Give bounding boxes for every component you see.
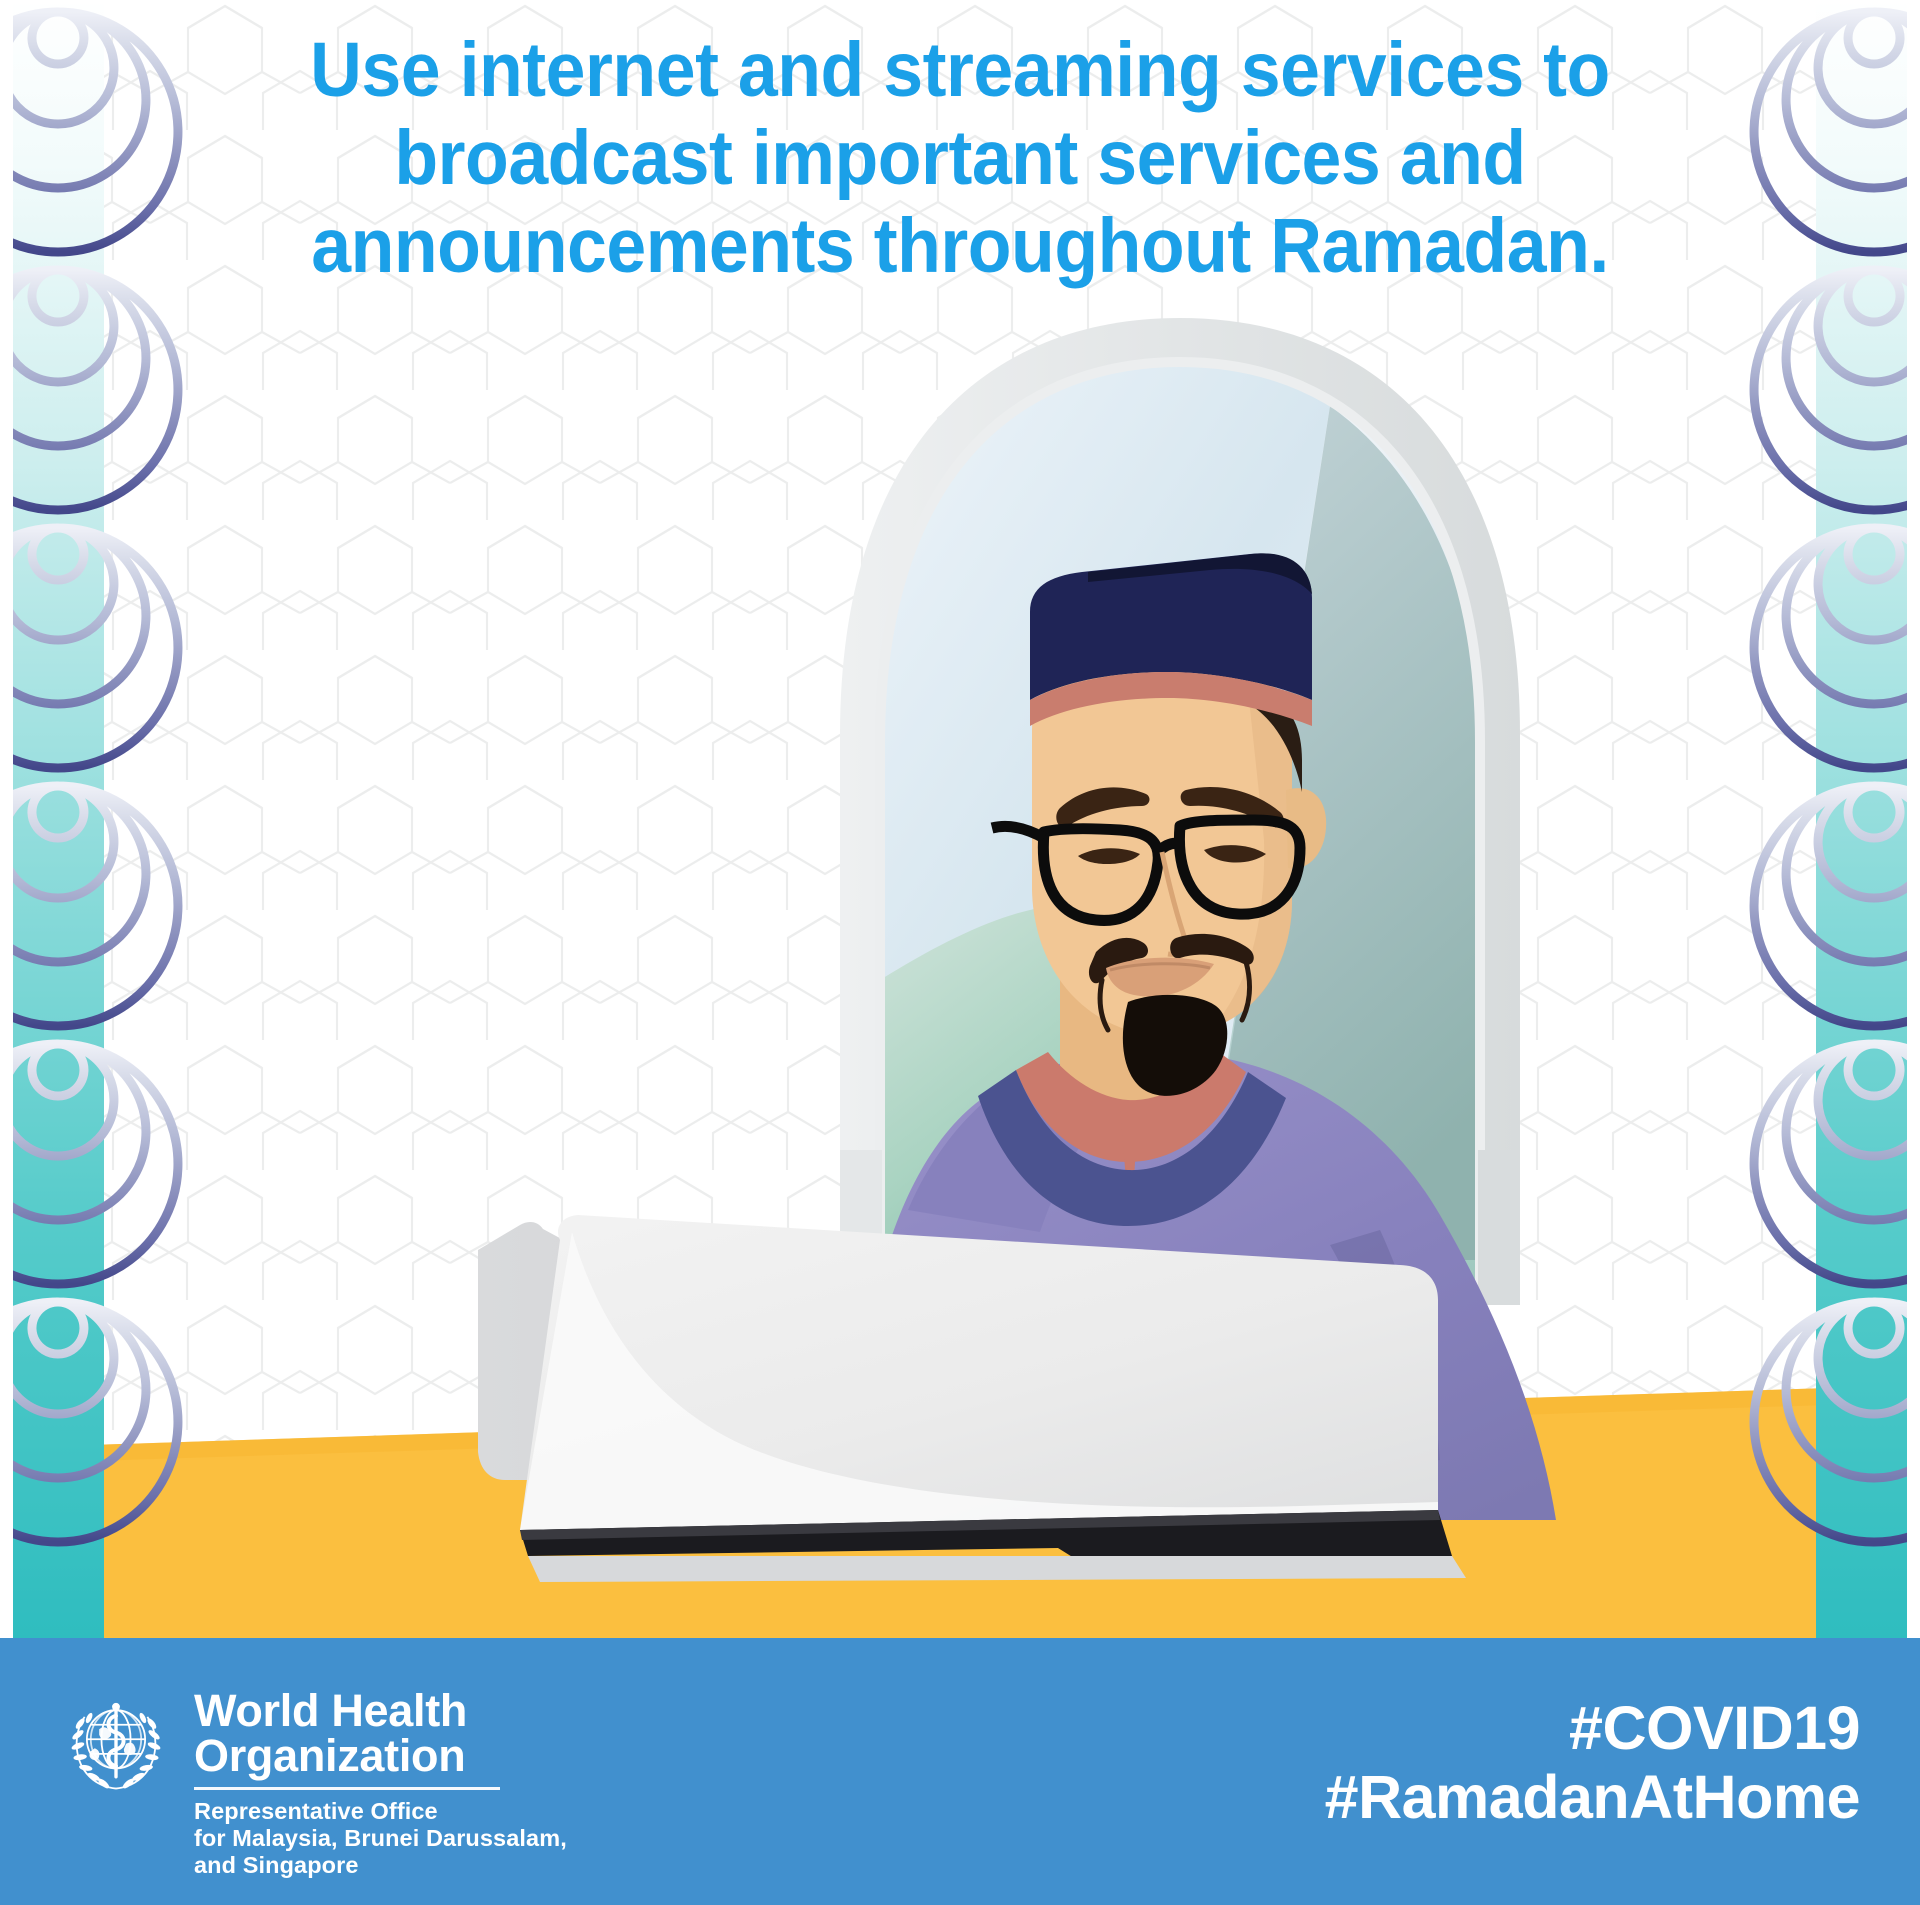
poster-canvas: Use internet and streaming services to b…: [0, 0, 1920, 1905]
laptop: [478, 1215, 1466, 1582]
who-wordmark: World Health Organization Representative…: [194, 1686, 567, 1879]
who-office-line-3: and Singapore: [194, 1852, 567, 1879]
who-office-line-1: Representative Office: [194, 1798, 567, 1825]
who-name-line-1: World Health: [194, 1688, 567, 1733]
headline-line-2: broadcast important services and: [67, 114, 1853, 202]
hashtag-ramadanathome: #RamadanAtHome: [1325, 1763, 1860, 1832]
footer-bar: World Health Organization Representative…: [0, 1638, 1920, 1905]
headline-line-1: Use internet and streaming services to: [67, 26, 1853, 114]
hashtag-covid19: #COVID19: [1325, 1694, 1860, 1763]
who-divider: [194, 1787, 500, 1790]
window-sill-right: [1478, 1150, 1520, 1305]
who-office-line-2: for Malaysia, Brunei Darussalam,: [194, 1825, 567, 1852]
who-name-line-2: Organization: [194, 1733, 567, 1778]
who-logo-block: World Health Organization Representative…: [60, 1686, 567, 1879]
headline: Use internet and streaming services to b…: [0, 26, 1920, 290]
laptop-base-front: [528, 1556, 1466, 1582]
headline-line-3: announcements throughout Ramadan.: [67, 202, 1853, 290]
who-emblem-icon: [60, 1690, 172, 1802]
hashtag-group: #COVID19 #RamadanAtHome: [1325, 1694, 1860, 1832]
